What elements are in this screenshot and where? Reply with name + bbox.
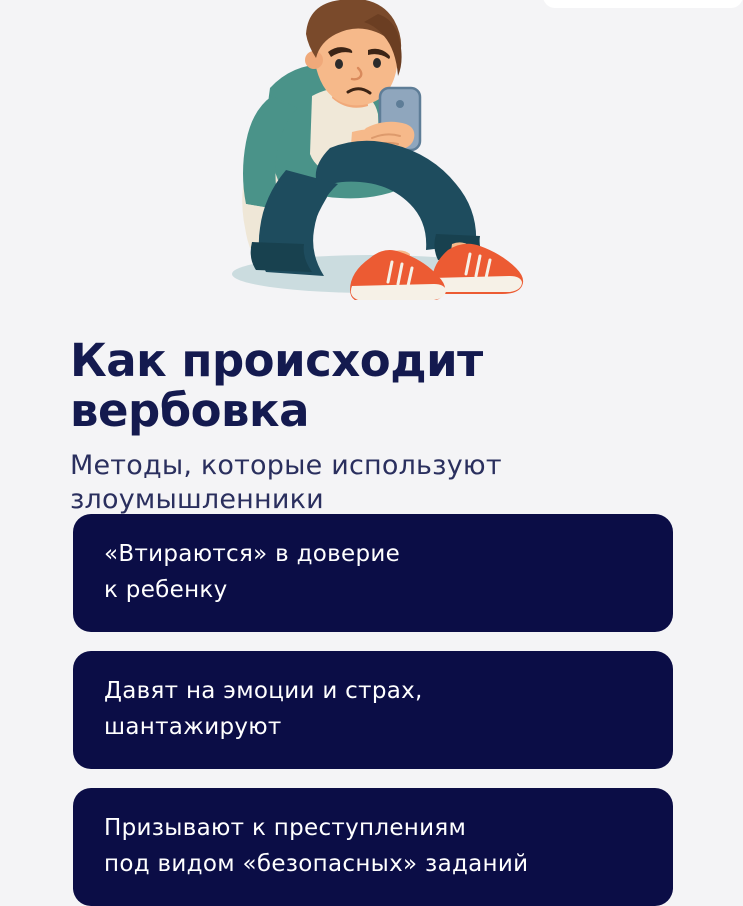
method-card-line-1: Призывают к преступлениям: [104, 815, 466, 841]
method-card: «Втираются» в доверие к ребенку: [73, 514, 673, 632]
method-card-list: «Втираются» в доверие к ребенку Давят на…: [73, 514, 673, 906]
method-card-line-1: Давят на эмоции и страх,: [104, 678, 423, 704]
eye-left: [335, 59, 343, 69]
illustration-sad-teen-with-phone: [0, 0, 743, 300]
method-card-line-1: «Втираются» в доверие: [104, 541, 400, 567]
page-title: Как происходит вербовка: [70, 336, 690, 436]
method-card: Давят на эмоции и страх, шантажируют: [73, 651, 673, 769]
method-card-line-2: под видом «безопасных» заданий: [104, 846, 643, 882]
phone-camera: [396, 100, 404, 108]
jeans-cuff-back: [251, 242, 312, 272]
page-subtitle-line-1: Методы, которые используют: [70, 450, 502, 481]
method-card-line-2: к ребенку: [104, 572, 643, 608]
page-title-line-2: вербовка: [70, 386, 690, 436]
method-card: Призывают к преступлениям под видом «без…: [73, 788, 673, 906]
page-subtitle: Методы, которые используют злоумышленник…: [70, 449, 700, 517]
illustration-svg: [0, 0, 743, 300]
method-card-line-2: шантажируют: [104, 709, 643, 745]
eye-right: [373, 58, 381, 68]
page-subtitle-line-2: злоумышленники: [70, 483, 700, 517]
sneaker-left-sole: [351, 284, 446, 300]
poster-root: Как происходит вербовка Методы, которые …: [0, 0, 743, 861]
page-title-line-1: Как происходит: [70, 334, 483, 387]
